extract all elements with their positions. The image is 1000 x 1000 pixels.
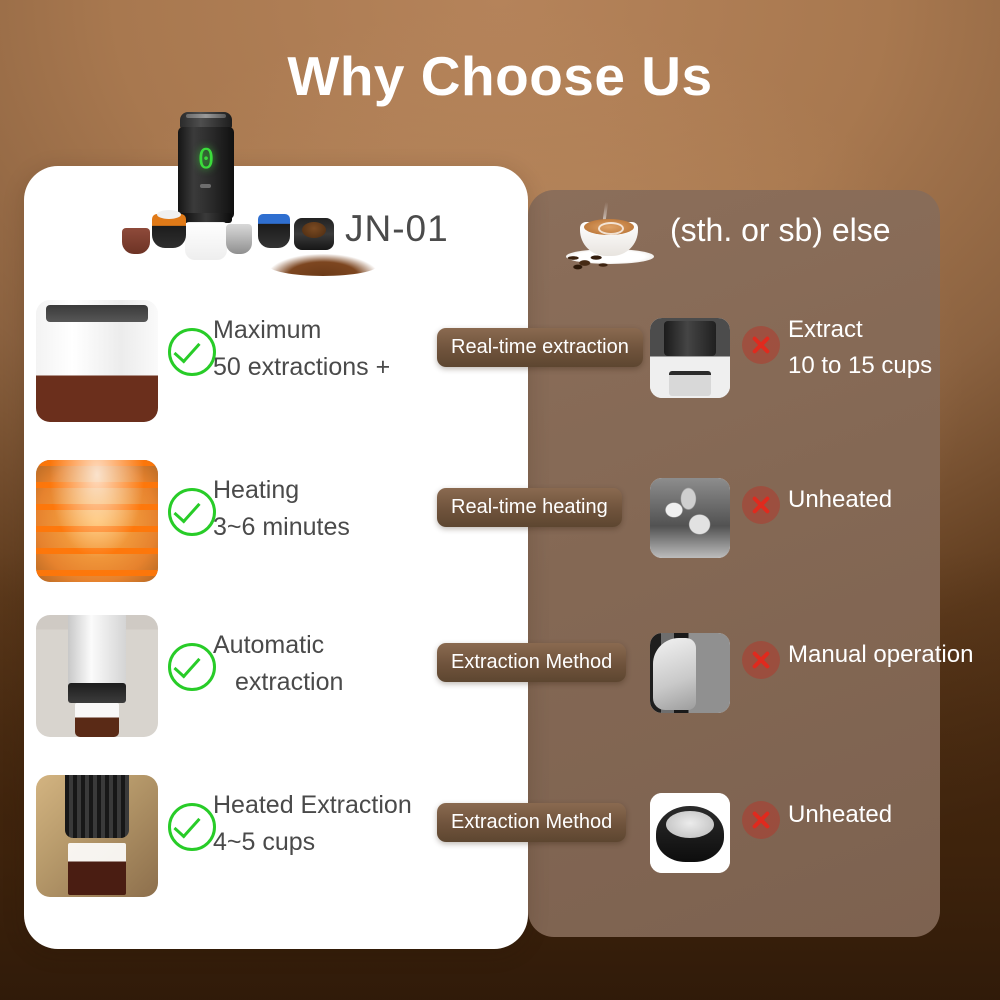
check-circle-icon: [168, 488, 216, 536]
product-name: JN-01: [345, 208, 449, 250]
coffee-grounds-icon: [268, 254, 378, 276]
feature-badge: Real-time heating: [437, 488, 622, 527]
coffee-capsule-icon: [122, 228, 150, 254]
check-circle-icon: [168, 803, 216, 851]
cross-circle-icon: [742, 326, 780, 364]
feature-badge: Real-time extraction: [437, 328, 643, 367]
feature-line-2: extraction: [213, 664, 453, 701]
feature-badge: Extraction Method: [437, 803, 626, 842]
feature-line-2: 3~6 minutes: [213, 509, 453, 546]
comparison-row: Heating 3~6 minutes Real-time heating Un…: [0, 460, 1000, 610]
competitor-text: Extract 10 to 15 cups: [788, 312, 998, 384]
competitor-label: (sth. or sb) else: [670, 212, 891, 249]
competitor-line-1: Unheated: [788, 797, 998, 833]
feature-text: Maximum 50 extractions +: [213, 312, 453, 386]
cross-circle-icon: [742, 801, 780, 839]
competitor-line-1: Extract: [788, 312, 998, 348]
machine-display-value: 0: [178, 142, 234, 175]
page-title: Why Choose Us: [0, 44, 1000, 108]
coffee-capsule-open-icon: [294, 218, 334, 250]
feature-text: Heating 3~6 minutes: [213, 472, 453, 546]
comparison-row: Heated Extraction 4~5 cups Extraction Me…: [0, 775, 1000, 925]
steam-icon: [603, 202, 608, 220]
feature-line-1: Maximum: [213, 312, 453, 349]
competitor-thumbnail-french-press: [650, 318, 730, 398]
latte-cup-icon: [564, 206, 656, 268]
competitor-line-1: Manual operation: [788, 637, 1000, 673]
feature-thumbnail-coffee-cup: [36, 300, 158, 422]
feature-line-2: 50 extractions +: [213, 349, 453, 386]
cross-circle-icon: [742, 641, 780, 679]
check-circle-icon: [168, 643, 216, 691]
competitor-text: Unheated: [788, 797, 998, 833]
feature-text: Heated Extraction 4~5 cups: [213, 787, 463, 861]
coffee-capsule-icon: [152, 214, 186, 248]
machine-button-icon: [200, 184, 211, 188]
coffee-capsule-icon: [258, 214, 290, 248]
feature-line-1: Heating: [213, 472, 453, 509]
poster: Why Choose Us 0 JN-01 (sth. or sb) else: [0, 0, 1000, 1000]
competitor-line-1: Unheated: [788, 482, 998, 518]
competitor-thumbnail-cold-water: [650, 478, 730, 558]
feature-thumbnail-heating-coils: [36, 460, 158, 582]
feature-line-2: 4~5 cups: [213, 824, 463, 861]
competitor-header: (sth. or sb) else: [552, 198, 952, 278]
competitor-line-2: 10 to 15 cups: [788, 348, 998, 384]
latte-art-swirl: [598, 222, 624, 235]
comparison-row: Automatic extraction Extraction Method M…: [0, 615, 1000, 765]
competitor-text: Unheated: [788, 482, 998, 518]
competitor-thumbnail-hand: [650, 633, 730, 713]
cross-circle-icon: [742, 486, 780, 524]
comparison-row: Maximum 50 extractions + Real-time extra…: [0, 300, 1000, 450]
check-circle-icon: [168, 328, 216, 376]
feature-thumbnail-heated-extraction: [36, 775, 158, 897]
feature-line-1: Heated Extraction: [213, 787, 463, 824]
machine-cup: [185, 222, 227, 260]
feature-text: Automatic extraction: [213, 627, 453, 701]
coffee-beans-icon: [564, 250, 610, 270]
feature-badge: Extraction Method: [437, 643, 626, 682]
competitor-text: Manual operation: [788, 637, 1000, 673]
feature-line-1: Automatic: [213, 627, 453, 664]
coffee-capsule-icon: [226, 224, 252, 254]
feature-thumbnail-auto-extraction: [36, 615, 158, 737]
competitor-thumbnail-filter-basket: [650, 793, 730, 873]
